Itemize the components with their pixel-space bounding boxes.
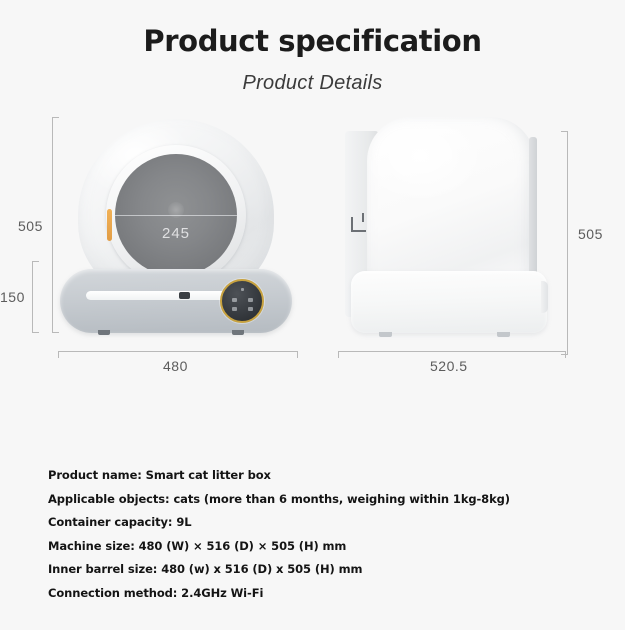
- drum-hub: [168, 202, 184, 218]
- front-height-label: 505: [18, 218, 43, 234]
- base-foot: [379, 332, 392, 337]
- control-panel-dial[interactable]: [220, 279, 264, 323]
- panel-indicator-dot: [248, 307, 253, 311]
- base-foot: [232, 330, 244, 335]
- base-foot: [497, 332, 510, 337]
- page-title: Product specification: [0, 26, 625, 58]
- side-depth-label: 520.5: [430, 358, 468, 374]
- side-rail: [529, 137, 537, 289]
- spec-item-machine-size: Machine size: 480 (W) × 516 (D) × 505 (H…: [48, 539, 588, 553]
- base-height-dimension-line: [32, 261, 33, 333]
- drum-reading-label: 245: [115, 225, 237, 242]
- base-height-tick-top: [32, 261, 39, 262]
- front-height-tick-bottom: [52, 332, 59, 333]
- litter-box-body-side: [367, 117, 535, 293]
- page-header: Product specification Product Details: [0, 0, 625, 95]
- spec-item-applicable: Applicable objects: cats (more than 6 mo…: [48, 492, 588, 506]
- panel-indicator-dot: [248, 298, 253, 302]
- panel-indicator-dot: [241, 288, 244, 291]
- front-width-tick-right: [297, 351, 298, 358]
- sensor-icon: [179, 292, 190, 299]
- spec-item-barrel-size: Inner barrel size: 480 (w) x 516 (D) x 5…: [48, 562, 588, 576]
- product-dimension-diagram: 245 505 150 480: [0, 113, 625, 393]
- inner-drum: 245: [115, 154, 237, 276]
- specification-list: Product name: Smart cat litter box Appli…: [48, 468, 588, 609]
- orange-accent-strip: [107, 209, 112, 241]
- handle-bracket-stem: [362, 213, 364, 222]
- front-width-label: 480: [163, 358, 188, 374]
- side-depth-tick-left: [338, 351, 339, 358]
- spec-item-product-name: Product name: Smart cat litter box: [48, 468, 588, 482]
- base-pedestal-side: [351, 271, 547, 333]
- base-edge-side: [541, 281, 548, 313]
- panel-indicator-dot: [232, 298, 237, 302]
- base-slot: [86, 291, 228, 300]
- front-width-dimension-line: [58, 351, 298, 352]
- page-subtitle: Product Details: [0, 72, 625, 95]
- base-pedestal: [60, 269, 292, 333]
- base-foot: [98, 330, 110, 335]
- side-height-tick-top: [561, 131, 568, 132]
- front-view-illustration: 245: [60, 113, 295, 348]
- panel-indicator-dot: [232, 307, 237, 311]
- front-width-tick-left: [58, 351, 59, 358]
- side-height-label: 505: [578, 226, 603, 242]
- front-height-dimension-line: [52, 117, 53, 333]
- spec-item-capacity: Container capacity: 9L: [48, 515, 588, 529]
- side-height-dimension-line: [567, 131, 568, 355]
- side-depth-dimension-line: [338, 351, 566, 352]
- side-depth-tick-right: [565, 351, 566, 358]
- spec-item-connection: Connection method: 2.4GHz Wi-Fi: [48, 586, 588, 600]
- side-view-illustration: [345, 113, 570, 348]
- base-height-label: 150: [0, 289, 25, 305]
- front-height-tick-top: [52, 117, 59, 118]
- base-height-tick-bottom: [32, 332, 39, 333]
